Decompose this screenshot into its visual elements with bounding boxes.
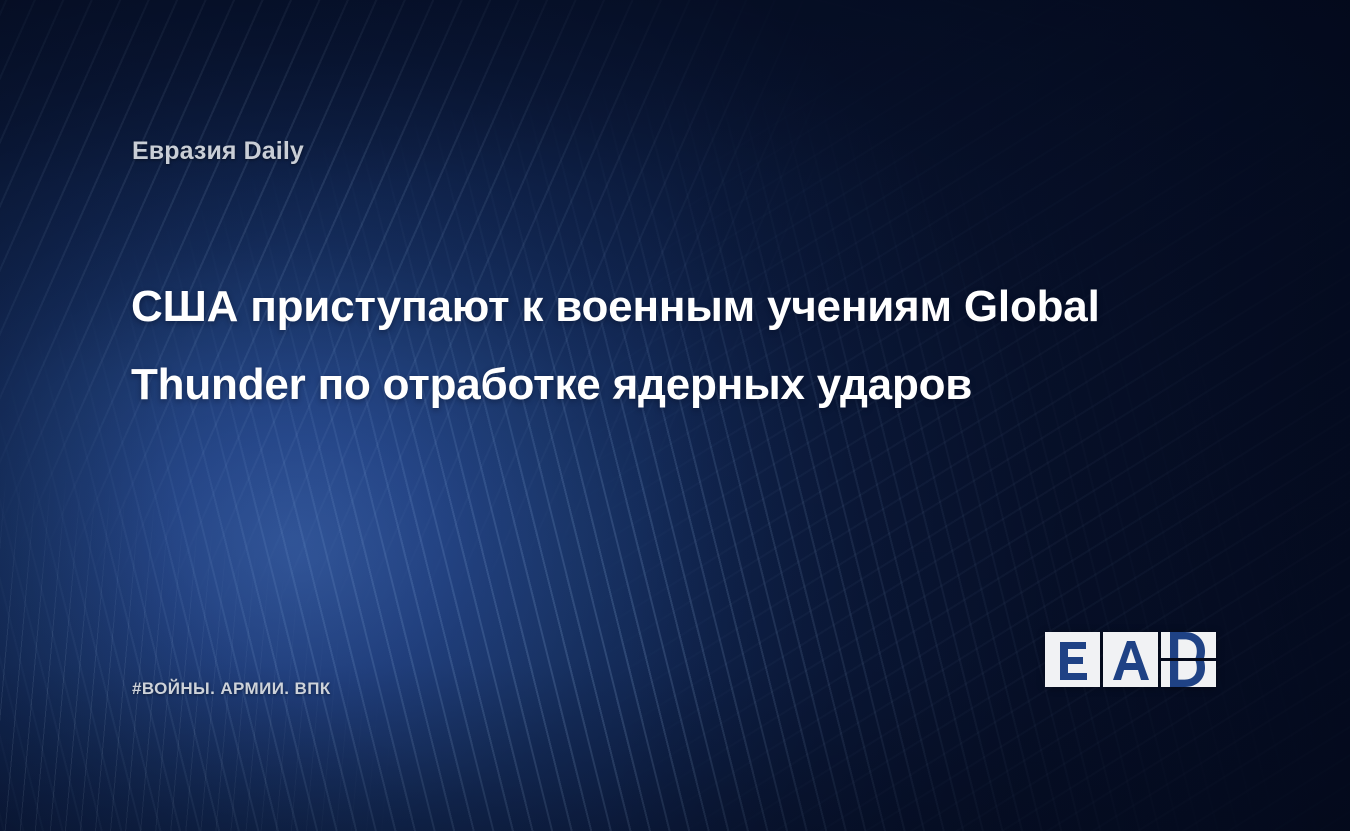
logo-tile-d-bottom-half <box>1161 661 1216 687</box>
logo-letter-a-icon <box>1112 640 1150 680</box>
page-title: США приступают к военным учениям Global … <box>131 268 1191 424</box>
logo-letter-e-icon <box>1056 640 1090 680</box>
logo-tile-d <box>1161 632 1216 687</box>
logo-tile-a <box>1103 632 1158 687</box>
logo-tile-e <box>1045 632 1100 687</box>
topic-hashtag: #ВОЙНЫ. АРМИИ. ВПК <box>132 679 331 699</box>
logo-tile-d-top-half <box>1161 632 1216 658</box>
logo-letter-d-bottom-icon <box>1161 661 1216 687</box>
ead-logo[interactable] <box>1045 632 1216 687</box>
brand-name: Евразия Daily <box>132 137 304 166</box>
cover-content: Евразия Daily США приступают к военным у… <box>0 0 1350 831</box>
logo-letter-d-top-icon <box>1161 632 1216 658</box>
news-cover-card: Евразия Daily США приступают к военным у… <box>0 0 1350 831</box>
